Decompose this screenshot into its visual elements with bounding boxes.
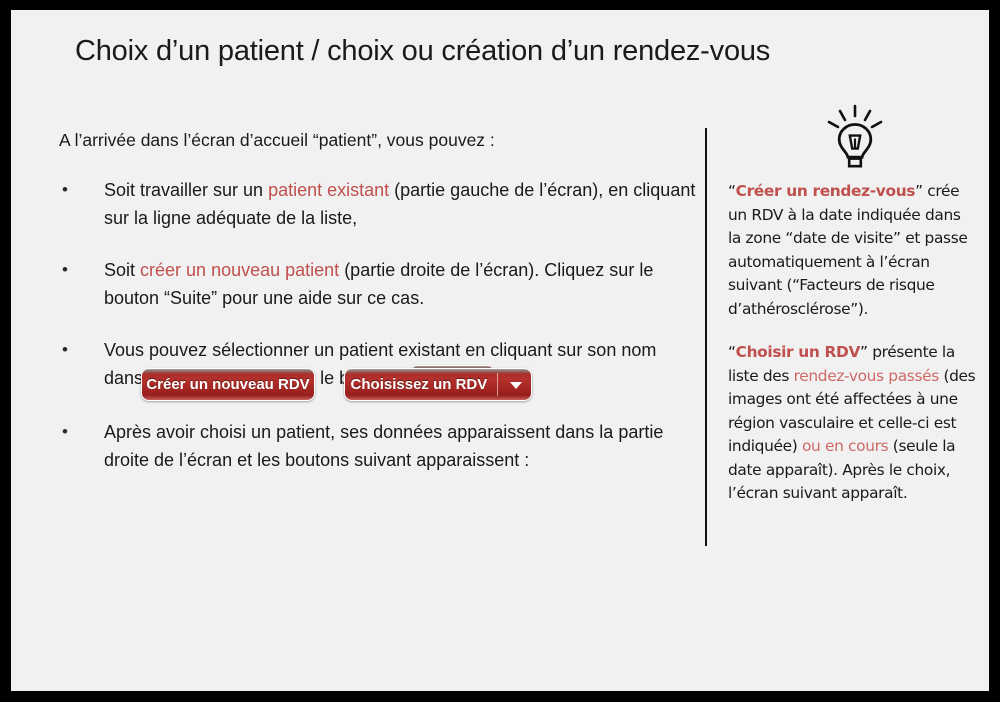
quote-close: ” (915, 182, 923, 200)
quote-open: “ (728, 182, 736, 200)
bullet-marker: • (56, 256, 104, 312)
left-content-column: A l’arrivée dans l’écran d’accueil “pati… (56, 128, 696, 474)
choose-rdv-button[interactable]: Choisissez un RDV (344, 368, 532, 401)
vertical-divider (705, 128, 707, 546)
page-title: Choix d’un patient / choix ou création d… (75, 32, 935, 70)
note-accent-2: ou en cours (802, 437, 888, 455)
list-item-text: Soit créer un nouveau patient (partie dr… (104, 256, 696, 312)
quote-open: “ (728, 343, 736, 361)
list-item: • Soit créer un nouveau patient (partie … (56, 256, 696, 312)
choose-rdv-label: Choisissez un RDV (345, 369, 493, 401)
intro-text: A l’arrivée dans l’écran d’accueil “pati… (59, 128, 696, 152)
lightbulb-icon (821, 104, 889, 170)
bullet-marker: • (56, 336, 104, 394)
chevron-down-icon[interactable] (510, 382, 522, 389)
list-item: • Soit travailler sur un patient existan… (56, 176, 696, 232)
quote-close: ” (860, 343, 868, 361)
text-accent: patient existant (268, 180, 389, 200)
create-new-rdv-button[interactable]: Créer un nouveau RDV (141, 368, 315, 401)
list-item: • Après avoir choisi un patient, ses don… (56, 418, 696, 474)
text-pre: Soit (104, 260, 140, 280)
note-paragraph-choose: “Choisir un RDV” présente la liste des r… (728, 341, 976, 506)
note-heading-accent: Choisir un RDV (736, 343, 860, 361)
text-accent: créer un nouveau patient (140, 260, 339, 280)
action-button-group: Créer un nouveau RDV Choisissez un RDV (141, 368, 532, 401)
bullet-marker: • (56, 418, 104, 474)
note-paragraph-create: “Créer un rendez-vous” crée un RDV à la … (728, 180, 976, 321)
slide-frame: Choix d’un patient / choix ou création d… (0, 0, 1000, 702)
note-heading-accent: Créer un rendez-vous (736, 182, 916, 200)
list-item-text: Après avoir choisi un patient, ses donné… (104, 418, 696, 474)
slide-canvas: Choix d’un patient / choix ou création d… (11, 10, 989, 691)
note-accent-1: rendez-vous passés (794, 367, 939, 385)
note-body: crée un RDV à la date indiquée dans la z… (728, 182, 968, 318)
list-item-text: Soit travailler sur un patient existant … (104, 176, 696, 232)
bullet-marker: • (56, 176, 104, 232)
dropdown-separator (497, 373, 498, 396)
right-notes-column: “Créer un rendez-vous” crée un RDV à la … (728, 180, 976, 526)
text-pre: Soit travailler sur un (104, 180, 268, 200)
